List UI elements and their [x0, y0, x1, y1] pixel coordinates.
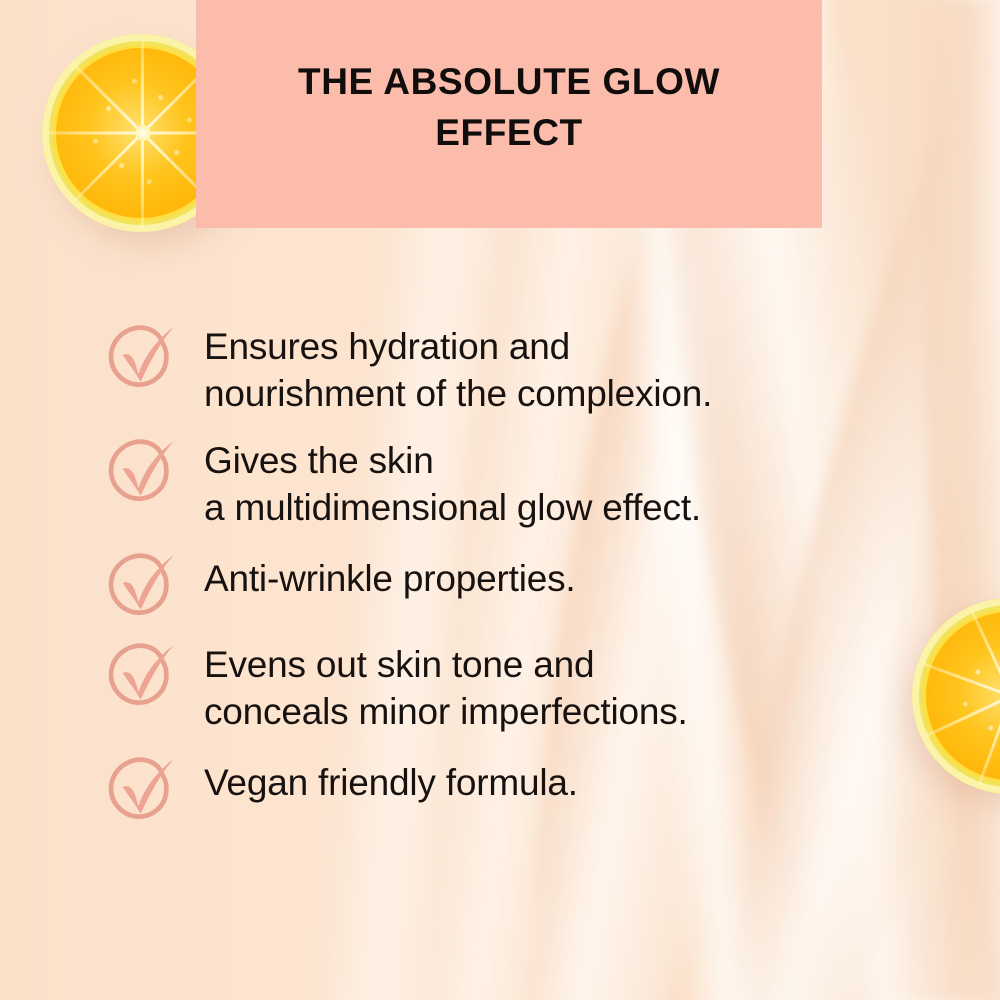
- check-circle-icon: [104, 322, 176, 394]
- check-circle-icon: [104, 640, 176, 712]
- page-title: THE ABSOLUTE GLOW EFFECT: [274, 56, 744, 158]
- benefit-text: Ensures hydration and nourishment of the…: [204, 320, 712, 418]
- benefit-item-1: Ensures hydration and nourishment of the…: [104, 320, 964, 418]
- poster-canvas: THE ABSOLUTE GLOW EFFECT Ensures hydrati…: [0, 0, 1000, 1000]
- benefit-text: Evens out skin tone and conceals minor i…: [204, 638, 688, 736]
- benefit-item-5: Vegan friendly formula.: [104, 752, 964, 826]
- lemon-core: [135, 125, 151, 141]
- benefit-item-2: Gives the skin a multidimensional glow e…: [104, 434, 964, 532]
- benefit-item-3: Anti-wrinkle properties.: [104, 548, 964, 622]
- check-circle-icon: [104, 754, 176, 826]
- title-banner: THE ABSOLUTE GLOW EFFECT: [196, 0, 822, 228]
- benefits-list: Ensures hydration and nourishment of the…: [104, 320, 964, 842]
- benefit-text: Gives the skin a multidimensional glow e…: [204, 434, 701, 532]
- benefit-text: Anti-wrinkle properties.: [204, 548, 576, 603]
- check-circle-icon: [104, 436, 176, 508]
- check-circle-icon: [104, 550, 176, 622]
- benefit-text: Vegan friendly formula.: [204, 752, 578, 807]
- benefit-item-4: Evens out skin tone and conceals minor i…: [104, 638, 964, 736]
